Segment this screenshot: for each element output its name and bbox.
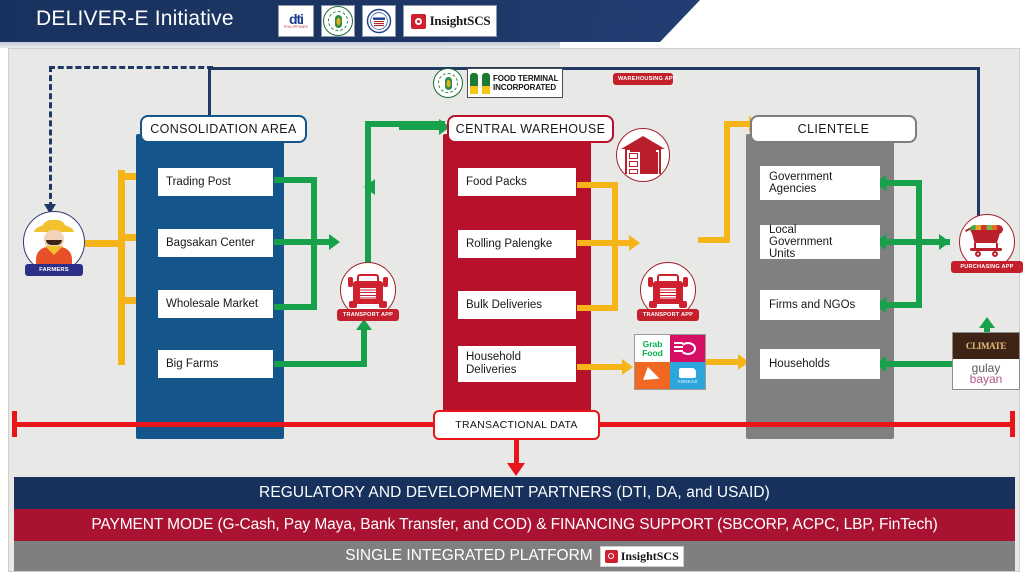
- green-gulay-to-households: [880, 361, 960, 367]
- yellow-transport-right-riser: [724, 121, 730, 243]
- warehouse-item-rolling-palengke[interactable]: Rolling Palengke: [457, 229, 577, 259]
- shopping-cart-icon: [965, 225, 1009, 259]
- transactional-data-label[interactable]: TRANSACTIONAL DATA: [433, 410, 600, 440]
- gulay-bayan-logo[interactable]: CLIMATE gulay bayan: [952, 332, 1020, 390]
- angkas-van-icon: [679, 368, 696, 378]
- green-transport-left-riser: [365, 121, 371, 185]
- transport-app-left-badge: TRANSPORT APP: [337, 309, 399, 321]
- fti-mark-icon: [470, 73, 490, 94]
- consolidation-item-bagsakan-center[interactable]: Bagsakan Center: [157, 228, 274, 258]
- clientele-item-local-government-units[interactable]: Local Government Units: [760, 225, 880, 259]
- green-wholesale-up: [311, 239, 317, 310]
- navy-dashed-vertical: [49, 66, 52, 208]
- green-trading-down: [311, 177, 317, 239]
- truck-icon: [347, 272, 389, 308]
- farmer-icon: [31, 219, 77, 265]
- warehouse-partner-logos: FOOD TERMINAL INCORPORATED: [433, 68, 563, 98]
- foodpanda-lines-icon: [674, 342, 683, 344]
- footer-bar-regulatory[interactable]: REGULATORY AND DEVELOPMENT PARTNERS (DTI…: [14, 477, 1015, 509]
- navy-loop-top: [208, 67, 980, 70]
- warehouse-item-food-packs[interactable]: Food Packs: [457, 167, 577, 197]
- navy-loop-right-drop: [977, 67, 980, 219]
- green-bigfarms-out: [273, 361, 367, 367]
- warehousing-app-circle[interactable]: [616, 128, 670, 182]
- yellow-farmers-riser: [118, 170, 125, 365]
- clientele-title[interactable]: CLIENTELE: [750, 115, 917, 143]
- footer-bar-platform[interactable]: SINGLE INTEGRATED PLATFORM InsightSCS: [14, 541, 1015, 571]
- slide-root: DELIVER-E Initiative dti PHILIPPINES In: [0, 0, 1028, 579]
- yellow-bulk-up: [612, 240, 618, 311]
- yellow-arrow-delivery-apps: [622, 359, 633, 375]
- yellow-arrow-transport-right: [629, 235, 640, 251]
- clientele-item-firms-and-ngos[interactable]: Firms and NGOs: [760, 290, 880, 320]
- insightscs-logo-footer: InsightSCS: [600, 546, 684, 567]
- gulay-bayan-wordmark: gulay bayan: [953, 359, 1019, 389]
- green-to-transport-left: [273, 239, 333, 245]
- green-bigfarms-riser: [361, 327, 367, 367]
- green-arrow-purchasing-app: [939, 234, 950, 250]
- navy-dashed-top: [49, 66, 213, 69]
- warehouse-icon: [621, 136, 665, 174]
- transactional-data-rail-cap-left: [12, 411, 17, 437]
- yellow-household-out: [576, 364, 628, 370]
- insightscs-mark-icon: [411, 14, 426, 29]
- green-arrow-purchasing-app-bottom: [979, 317, 995, 328]
- green-firms-riser: [916, 239, 922, 308]
- grabfood-logo[interactable]: Grab Food: [635, 335, 670, 362]
- page-title: DELIVER-E Initiative: [36, 7, 234, 31]
- bpi-logo: [362, 5, 396, 37]
- green-gov-drop: [916, 180, 922, 242]
- header-logo-row: dti PHILIPPINES InsightSCS: [278, 5, 497, 37]
- truck-icon-right: [647, 272, 689, 308]
- da-seal-icon: [323, 6, 353, 36]
- yellow-foodpacks-down: [612, 182, 618, 246]
- lalamove-logo[interactable]: [635, 362, 670, 389]
- clientele-item-government-agencies[interactable]: Government Agencies: [760, 166, 880, 200]
- diagram-canvas: FARMERS CONSOLIDATION AREA Trading Post …: [8, 48, 1020, 572]
- consolidation-item-trading-post[interactable]: Trading Post: [157, 167, 274, 197]
- transactional-data-rail-cap-right: [1010, 411, 1015, 437]
- purchasing-app-badge: PURCHASING APP: [951, 261, 1023, 273]
- yellow-to-transport-right: [576, 240, 633, 246]
- delivery-apps-grid[interactable]: Grab Food ANGKAS: [634, 334, 706, 390]
- food-terminal-incorporated-logo: FOOD TERMINAL INCORPORATED: [467, 68, 563, 98]
- transactional-data-arrowhead: [507, 463, 525, 476]
- da-seal-icon-warehouse: [433, 68, 463, 98]
- warehouse-item-bulk-deliveries[interactable]: Bulk Deliveries: [457, 290, 577, 320]
- insightscs-logo: InsightSCS: [403, 5, 497, 37]
- farmers-badge: FARMERS: [25, 264, 83, 276]
- clientele-item-households[interactable]: Households: [760, 349, 880, 379]
- transport-app-right-badge: TRANSPORT APP: [637, 309, 699, 321]
- angkas-logo[interactable]: ANGKAS: [670, 362, 705, 389]
- dti-logo: dti PHILIPPINES: [278, 5, 314, 37]
- consolidation-item-big-farms[interactable]: Big Farms: [157, 349, 274, 379]
- bpi-seal-icon: [366, 8, 392, 34]
- consolidation-item-wholesale-market[interactable]: Wholesale Market: [157, 289, 274, 319]
- insightscs-mark-icon-footer: [605, 550, 618, 563]
- warehouse-item-household-deliveries[interactable]: Household Deliveries: [457, 345, 577, 383]
- green-arrow-transport-left: [329, 234, 340, 250]
- central-warehouse-title[interactable]: CENTRAL WAREHOUSE: [447, 115, 614, 143]
- lalamove-bird-icon: [643, 366, 662, 384]
- gulay-bayan-banner: CLIMATE: [953, 333, 1019, 359]
- footer-bar-platform-label: SINGLE INTEGRATED PLATFORM: [345, 547, 592, 565]
- consolidation-area-title[interactable]: CONSOLIDATION AREA: [140, 115, 307, 143]
- department-of-agriculture-logo: [321, 5, 355, 37]
- warehousing-app-badge: WAREHOUSING APP: [613, 73, 673, 85]
- footer-bar-payment[interactable]: PAYMENT MODE (G-Cash, Pay Maya, Bank Tra…: [14, 509, 1015, 541]
- foodpanda-logo[interactable]: [670, 335, 705, 362]
- green-transport-left-stem: [365, 179, 371, 265]
